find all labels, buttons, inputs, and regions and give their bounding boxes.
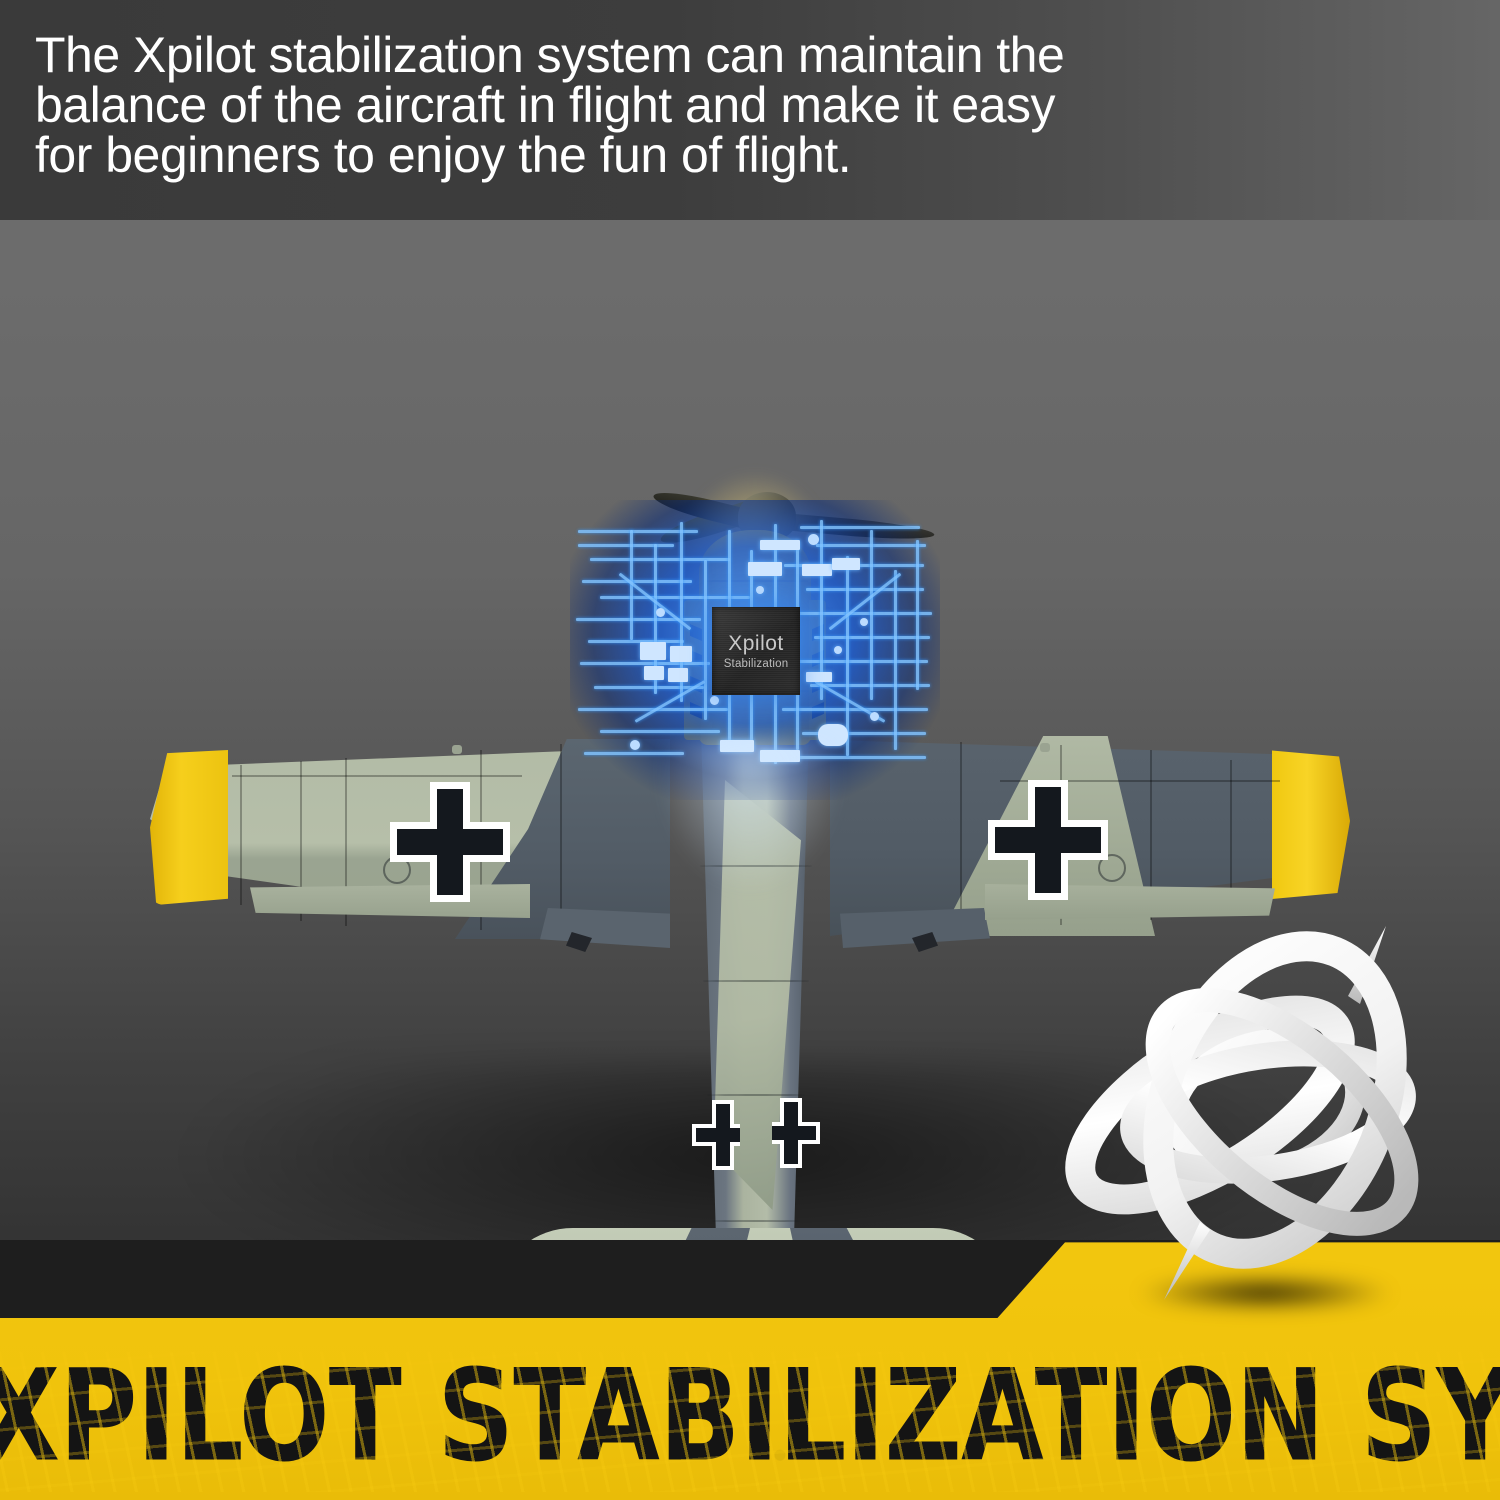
chip-subtitle: Stabilization [724, 658, 789, 670]
banner-title: XPILOT STABILIZATION SYSTEM [0, 1352, 1500, 1479]
header-band: The Xpilot stabilization system can main… [0, 0, 1500, 220]
balkenkreuz-right-wing [988, 780, 1108, 900]
right-wingtip-yellow [1272, 749, 1350, 899]
gyroscope-icon [1060, 900, 1480, 1320]
product-feature-image: The Xpilot stabilization system can main… [0, 0, 1500, 1500]
left-wingtip-yellow [150, 750, 228, 905]
chip-title: Xpilot [728, 633, 784, 655]
feature-description: The Xpilot stabilization system can main… [35, 30, 1215, 180]
balkenkreuz-fuselage-left [692, 1100, 740, 1170]
pcb-glow-bottom [660, 740, 840, 890]
balkenkreuz-left-wing [390, 782, 510, 902]
xpilot-chip: Xpilot Stabilization [712, 607, 800, 695]
balkenkreuz-fuselage-right [772, 1098, 820, 1168]
